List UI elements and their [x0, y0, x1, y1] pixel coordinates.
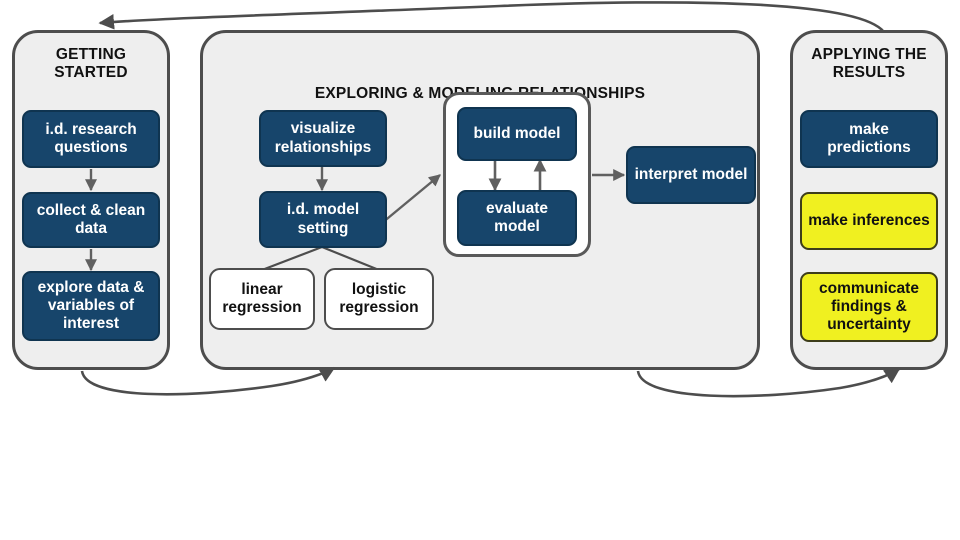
- node-explore-data-variables[interactable]: explore data & variables of interest: [22, 271, 160, 341]
- connector-exploring-to-applying: [638, 369, 899, 396]
- node-visualize-relationships[interactable]: visualize relationships: [259, 110, 387, 167]
- node-make-inferences[interactable]: make inferences: [800, 192, 938, 250]
- panel-applying-results-title: APPLYING THE RESULTS: [793, 46, 945, 83]
- diagram-canvas: GETTING STARTED EXPLORING & MODELING REL…: [0, 0, 960, 540]
- panel-title-line-2: RESULTS: [833, 64, 906, 81]
- node-evaluate-model[interactable]: evaluate model: [457, 190, 577, 246]
- panel-title-line-2: STARTED: [54, 64, 127, 81]
- node-make-predictions[interactable]: make predictions: [800, 110, 938, 168]
- panel-title-line-1: GETTING: [56, 46, 126, 63]
- panel-getting-started-title: GETTING STARTED: [15, 46, 167, 83]
- node-communicate-findings[interactable]: communicate findings & uncertainty: [800, 272, 938, 342]
- node-id-research-questions[interactable]: i.d. research questions: [22, 110, 160, 168]
- node-id-model-setting[interactable]: i.d. model setting: [259, 191, 387, 248]
- connector-applying-to-getting: [100, 2, 884, 32]
- node-interpret-model[interactable]: interpret model: [626, 146, 756, 204]
- node-linear-regression[interactable]: linear regression: [209, 268, 315, 330]
- panel-title-line-1: APPLYING THE: [811, 46, 927, 63]
- connector-getting-to-exploring: [82, 368, 334, 394]
- node-collect-clean-data[interactable]: collect & clean data: [22, 192, 160, 248]
- node-build-model[interactable]: build model: [457, 107, 577, 161]
- node-logistic-regression[interactable]: logistic regression: [324, 268, 434, 330]
